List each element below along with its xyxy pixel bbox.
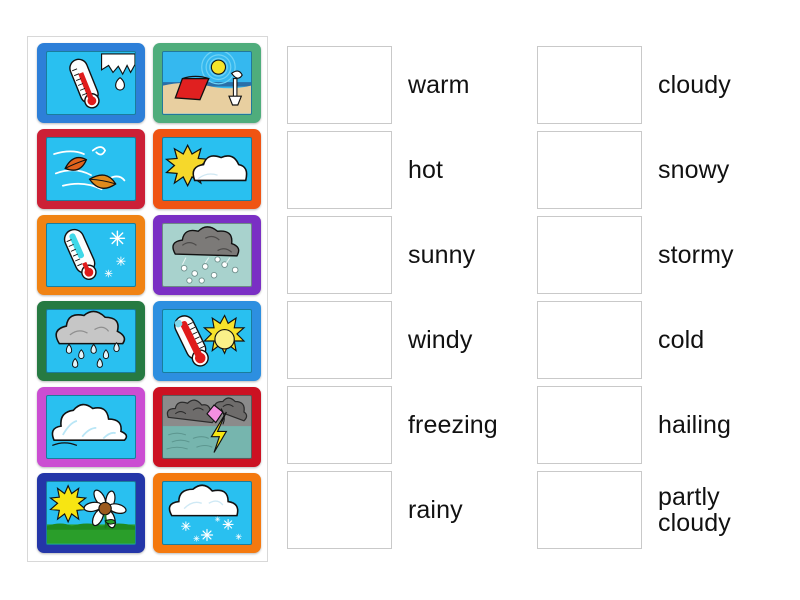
picture-tile-snow-cloud[interactable] <box>153 473 261 553</box>
drop-target-cloudy[interactable] <box>537 46 642 124</box>
weather-picture-bank <box>27 36 268 562</box>
white-clouds-icon <box>46 395 136 459</box>
answer-label-snowy: snowy <box>658 157 729 184</box>
answer-label-cloudy: cloudy <box>658 72 731 99</box>
hail-cloud-icon <box>162 223 252 287</box>
drop-target-stormy[interactable] <box>537 216 642 294</box>
answer-row: snowy <box>537 131 734 209</box>
picture-tile-sun-behind-cloud[interactable] <box>153 129 261 209</box>
picture-tile-hail-cloud[interactable] <box>153 215 261 295</box>
drop-target-partly-cloudy[interactable] <box>537 471 642 549</box>
beach-bucket-sun-icon <box>162 51 252 115</box>
answer-row: cold <box>537 301 734 379</box>
answer-row: cloudy <box>537 46 734 124</box>
drop-target-sunny[interactable] <box>287 216 392 294</box>
snow-cloud-icon <box>162 481 252 545</box>
drop-target-warm[interactable] <box>287 46 392 124</box>
picture-tile-rain-cloud[interactable] <box>37 301 145 381</box>
activity-stage: warm hot sunny windy freezing rainy clou… <box>0 0 800 600</box>
picture-tile-thermometer-sun[interactable] <box>153 301 261 381</box>
answer-row: hailing <box>537 386 734 464</box>
sun-flower-icon <box>46 481 136 545</box>
drop-target-rainy[interactable] <box>287 471 392 549</box>
answer-label-windy: windy <box>408 327 472 354</box>
picture-tile-thermometer-snowflakes[interactable] <box>37 215 145 295</box>
picture-tile-thermometer-melting[interactable] <box>37 43 145 123</box>
rain-cloud-icon <box>46 309 136 373</box>
picture-tile-sun-flower[interactable] <box>37 473 145 553</box>
answer-row: warm <box>287 46 498 124</box>
answer-row: sunny <box>287 216 498 294</box>
answer-label-cold: cold <box>658 327 704 354</box>
answer-row: rainy <box>287 471 498 549</box>
thermometer-sun-icon <box>162 309 252 373</box>
answer-column-left: warm hot sunny windy freezing rainy <box>287 46 498 556</box>
answer-label-warm: warm <box>408 72 470 99</box>
answer-row: hot <box>287 131 498 209</box>
drop-target-cold[interactable] <box>537 301 642 379</box>
answer-label-sunny: sunny <box>408 242 475 269</box>
sun-behind-cloud-icon <box>162 137 252 201</box>
picture-tile-storm-lightning-kite[interactable] <box>153 387 261 467</box>
answer-row: windy <box>287 301 498 379</box>
picture-tile-white-clouds[interactable] <box>37 387 145 467</box>
drop-target-hot[interactable] <box>287 131 392 209</box>
answer-row: partly cloudy <box>537 471 734 549</box>
drop-target-windy[interactable] <box>287 301 392 379</box>
drop-target-hailing[interactable] <box>537 386 642 464</box>
answer-label-rainy: rainy <box>408 497 463 524</box>
wind-leaves-icon <box>46 137 136 201</box>
storm-lightning-kite-icon <box>162 395 252 459</box>
picture-tile-wind-leaves[interactable] <box>37 129 145 209</box>
picture-tile-beach-bucket-sun[interactable] <box>153 43 261 123</box>
thermometer-melting-icon <box>46 51 136 115</box>
answer-label-stormy: stormy <box>658 242 734 269</box>
answer-label-hailing: hailing <box>658 412 731 439</box>
drop-target-freezing[interactable] <box>287 386 392 464</box>
answer-label-hot: hot <box>408 157 443 184</box>
thermometer-snowflakes-icon <box>46 223 136 287</box>
drop-target-snowy[interactable] <box>537 131 642 209</box>
answer-row: freezing <box>287 386 498 464</box>
answer-label-partly-cloudy: partly cloudy <box>658 484 731 537</box>
answer-label-freezing: freezing <box>408 412 498 439</box>
answer-column-right: cloudy snowy stormy cold hailing partly … <box>537 46 734 556</box>
answer-row: stormy <box>537 216 734 294</box>
